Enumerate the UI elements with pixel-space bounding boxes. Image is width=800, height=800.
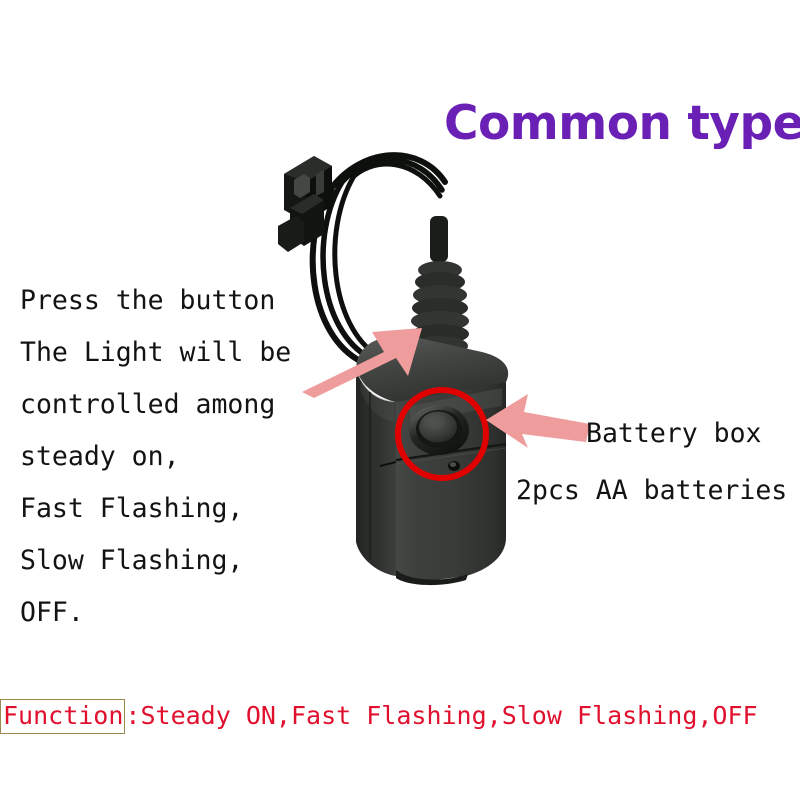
instruction-line: The Light will be [20, 327, 320, 379]
instruction-line: controlled among [20, 379, 320, 431]
function-key-label: Function [0, 699, 125, 734]
arrow-to-battery-box [484, 392, 594, 448]
function-summary-bar: Function:Steady ON,Fast Flashing,Slow Fl… [0, 694, 800, 738]
instruction-text-block: Press the button The Light will be contr… [20, 275, 320, 639]
led-indicator [448, 461, 460, 471]
callout-label-battery-box: Battery box [586, 418, 762, 449]
diagram-canvas: Common type [0, 0, 800, 800]
callout-label-batteries: 2pcs AA batteries [516, 475, 787, 506]
instruction-line: Slow Flashing, [20, 535, 320, 587]
instruction-line: steady on, [20, 431, 320, 483]
instruction-line: Press the button [20, 275, 320, 327]
instruction-line: OFF. [20, 587, 320, 639]
power-button[interactable] [409, 405, 469, 455]
instruction-line: Fast Flashing, [20, 483, 320, 535]
function-modes-text: :Steady ON,Fast Flashing,Slow Flashing,O… [125, 701, 757, 731]
